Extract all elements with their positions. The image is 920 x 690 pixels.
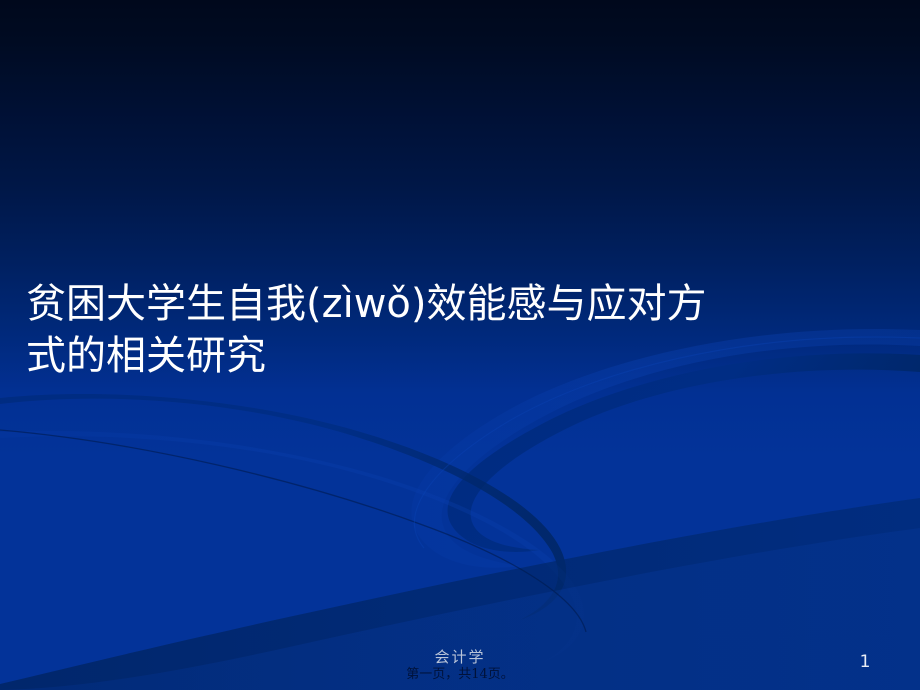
footer-page-count-label: 第一页，共14页。 (0, 667, 920, 682)
slide-title-line-1: 贫困大学生自我(zìwǒ)效能感与应对方 (26, 278, 904, 330)
swoosh-band-middle (0, 394, 584, 666)
footer-subject-label: 会计学 (0, 648, 920, 667)
presentation-slide: 贫困大学生自我(zìwǒ)效能感与应对方 式的相关研究 会计学 第一页，共14页… (0, 0, 920, 690)
slide-title: 贫困大学生自我(zìwǒ)效能感与应对方 式的相关研究 (26, 278, 904, 382)
slide-title-line-2: 式的相关研究 (26, 330, 904, 382)
slide-footer: 会计学 第一页，共14页。 (0, 648, 920, 682)
slide-number-label: 1 (845, 652, 885, 672)
